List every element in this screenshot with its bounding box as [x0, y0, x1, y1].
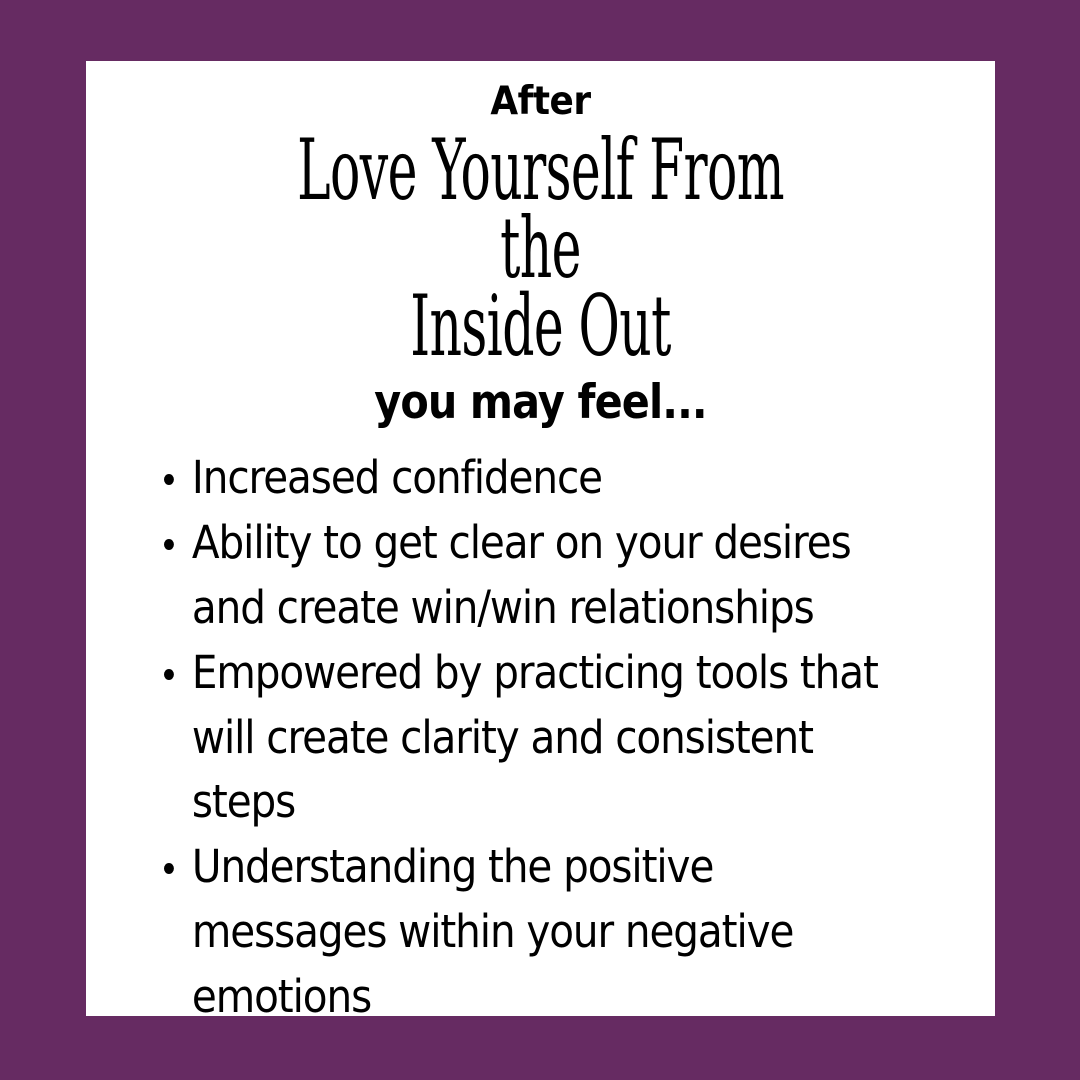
list-item-label: Increased confidence — [192, 451, 602, 504]
list-item: Understanding the positive messages with… — [164, 835, 894, 1016]
bullet-icon — [164, 474, 174, 485]
list-item: Ability to get clear on your desires and… — [164, 511, 894, 641]
eyebrow-label: After — [122, 82, 958, 121]
content-card: After Love Yourself From the Inside Out … — [86, 61, 995, 1016]
poster-frame: After Love Yourself From the Inside Out … — [0, 0, 1080, 1080]
list-item: Increased confidence — [164, 446, 894, 511]
list-item-label: Understanding the positive messages with… — [192, 840, 793, 1016]
list-item: Empowered by practicing tools that will … — [164, 641, 894, 835]
page-title: Love Yourself From the Inside Out — [268, 131, 813, 365]
subheading-label: you may feel... — [141, 379, 941, 426]
list-item-label: Ability to get clear on your desires and… — [192, 516, 851, 634]
list-item-label: Empowered by practicing tools that will … — [192, 646, 878, 829]
bullet-icon — [164, 863, 174, 874]
benefits-list: Increased confidence Ability to get clea… — [86, 446, 995, 1016]
bullet-icon — [164, 539, 174, 550]
bullet-icon — [164, 669, 174, 680]
